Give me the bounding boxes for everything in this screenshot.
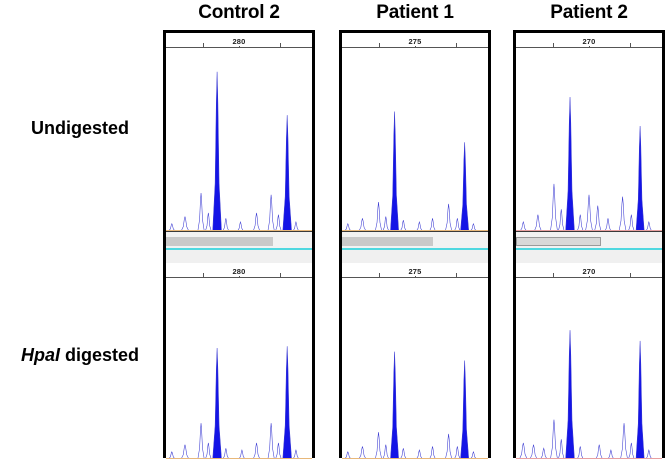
size-standard-axis: 275 <box>342 33 488 50</box>
size-standard-axis: 280 <box>166 33 312 50</box>
axis-tick <box>630 43 631 48</box>
row-separator-band <box>166 231 312 263</box>
size-marker-label: 270 <box>580 267 597 276</box>
axis-tick <box>456 43 457 48</box>
trace-plot-patient2-undigested <box>516 50 662 231</box>
axis-tick <box>456 273 457 278</box>
column-header-patient1: Patient 1 <box>339 2 491 24</box>
enzyme-name: HpaI <box>21 345 60 365</box>
electropherogram-pane-patient2-undigested: 270 <box>516 33 662 231</box>
separator-grey-bar <box>166 237 273 246</box>
row-label-digested: HpaI digested <box>0 345 160 366</box>
sample-column-patient1: 275275 <box>339 30 491 458</box>
electropherogram-pane-control2-undigested: 280 <box>166 33 312 231</box>
size-standard-axis: 270 <box>516 263 662 280</box>
size-marker-label: 275 <box>406 267 423 276</box>
electropherogram-pane-patient2-digested: 270 <box>516 263 662 459</box>
electropherogram-figure: Control 2Patient 1Patient 2UndigestedHpa… <box>0 0 669 460</box>
column-header-control2: Control 2 <box>163 2 315 24</box>
size-marker-label: 275 <box>406 37 423 46</box>
axis-tick <box>280 273 281 278</box>
trace-plot-control2-digested <box>166 280 312 459</box>
separator-grey-bar <box>516 237 601 246</box>
sample-column-patient2: 270270 <box>513 30 665 458</box>
axis-tick <box>553 273 554 278</box>
axis-tick <box>203 273 204 278</box>
size-standard-axis: 270 <box>516 33 662 50</box>
size-marker-label: 280 <box>230 267 247 276</box>
axis-tick <box>203 43 204 48</box>
row-separator-band <box>516 231 662 263</box>
trace-baseline <box>516 458 662 460</box>
separator-grey-bar <box>342 237 433 246</box>
trace-plot-patient2-digested <box>516 280 662 459</box>
row-label-undigested: Undigested <box>0 118 160 139</box>
axis-tick <box>280 43 281 48</box>
electropherogram-pane-control2-digested: 280 <box>166 263 312 459</box>
axis-tick <box>553 43 554 48</box>
trace-plot-patient1-digested <box>342 280 488 459</box>
separator-lower-strip <box>516 250 662 263</box>
trace-plot-control2-undigested <box>166 50 312 231</box>
size-standard-axis: 280 <box>166 263 312 280</box>
separator-lower-strip <box>166 250 312 263</box>
trace-plot-patient1-undigested <box>342 50 488 231</box>
size-marker-label: 280 <box>230 37 247 46</box>
sample-column-control2: 280280 <box>163 30 315 458</box>
axis-tick <box>379 43 380 48</box>
axis-tick <box>379 273 380 278</box>
size-marker-label: 270 <box>580 37 597 46</box>
size-standard-axis: 275 <box>342 263 488 280</box>
electropherogram-pane-patient1-digested: 275 <box>342 263 488 459</box>
column-header-patient2: Patient 2 <box>513 2 665 24</box>
trace-baseline <box>166 458 312 460</box>
electropherogram-pane-patient1-undigested: 275 <box>342 33 488 231</box>
separator-lower-strip <box>342 250 488 263</box>
axis-tick <box>630 273 631 278</box>
trace-baseline <box>342 458 488 460</box>
row-separator-band <box>342 231 488 263</box>
